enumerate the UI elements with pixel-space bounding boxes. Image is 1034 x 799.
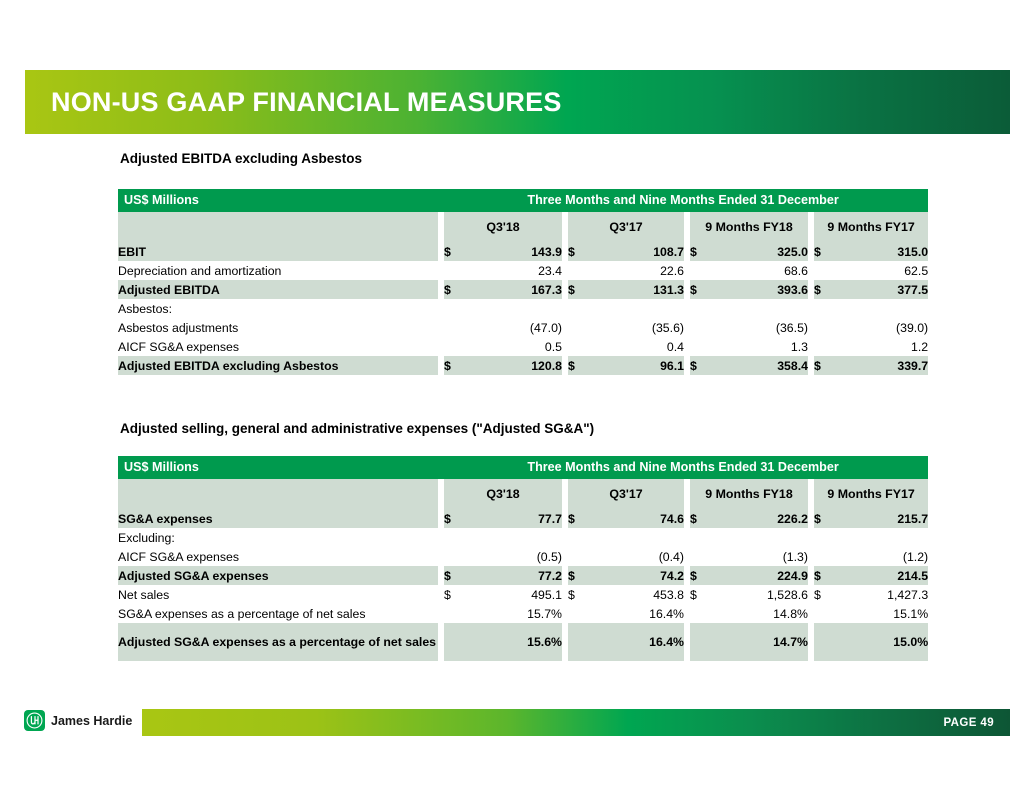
table-row: Adjusted EBITDA excluding Asbestos $ 120… <box>118 356 928 375</box>
row-value: 77.7 <box>462 509 562 528</box>
brand-name: James Hardie <box>51 714 132 728</box>
row-value: 14.8% <box>708 604 808 623</box>
table-row: EBIT $ 143.9 $ 108.7 $ 325.0 $ 315.0 <box>118 242 928 261</box>
row-value: 0.4 <box>586 337 684 356</box>
row-label: Depreciation and amortization <box>118 261 438 280</box>
table1-col-q318: Q3'18 <box>444 212 562 242</box>
row-value: 1.2 <box>832 337 928 356</box>
table-row: Adjusted SG&A expenses $ 77.2 $ 74.2 $ 2… <box>118 566 928 585</box>
row-value: (0.5) <box>462 547 562 566</box>
page-title: NON-US GAAP FINANCIAL MEASURES <box>25 87 562 118</box>
row-currency: $ <box>568 356 586 375</box>
row-currency: $ <box>444 356 462 375</box>
table2-col-q317: Q3'17 <box>568 479 684 509</box>
row-value: 15.1% <box>832 604 928 623</box>
row-value: 14.7% <box>708 623 808 661</box>
row-label: Adjusted SG&A expenses as a percentage o… <box>118 623 438 661</box>
james-hardie-monogram-icon <box>24 710 45 731</box>
row-currency: $ <box>444 280 462 299</box>
table-row: Asbestos adjustments (47.0) (35.6) (36.5… <box>118 318 928 337</box>
row-value: 22.6 <box>586 261 684 280</box>
table1-banner-right: Three Months and Nine Months Ended 31 De… <box>438 189 928 212</box>
row-value: 315.0 <box>832 242 928 261</box>
table-row: SG&A expenses $ 77.7 $ 74.6 $ 226.2 $ 21… <box>118 509 928 528</box>
row-value: 167.3 <box>462 280 562 299</box>
table2-column-header-row: Q3'18 Q3'17 9 Months FY18 9 Months FY17 <box>118 479 928 509</box>
table-row: AICF SG&A expenses (0.5) (0.4) (1.3) (1.… <box>118 547 928 566</box>
row-value: 143.9 <box>462 242 562 261</box>
row-currency <box>814 261 832 280</box>
row-value <box>832 299 928 318</box>
row-currency <box>444 261 462 280</box>
table1-colhead-blank <box>118 212 438 242</box>
table1-banner-left: US$ Millions <box>118 189 438 212</box>
row-currency: $ <box>444 242 462 261</box>
row-currency: $ <box>444 585 462 604</box>
row-currency: $ <box>444 566 462 585</box>
brand-logo: James Hardie <box>24 710 132 731</box>
row-label: EBIT <box>118 242 438 261</box>
row-currency: $ <box>568 280 586 299</box>
row-currency: $ <box>690 566 708 585</box>
row-currency <box>568 261 586 280</box>
row-value: 96.1 <box>586 356 684 375</box>
row-currency: $ <box>690 585 708 604</box>
row-value: (1.3) <box>708 547 808 566</box>
row-value: 16.4% <box>586 623 684 661</box>
row-currency: $ <box>690 509 708 528</box>
row-value: (47.0) <box>462 318 562 337</box>
row-value: 377.5 <box>832 280 928 299</box>
row-value: (36.5) <box>708 318 808 337</box>
table2-banner-row: US$ Millions Three Months and Nine Month… <box>118 456 928 479</box>
row-value: 15.6% <box>462 623 562 661</box>
row-value: 74.6 <box>586 509 684 528</box>
row-value <box>462 299 562 318</box>
table-row: Adjusted SG&A expenses as a percentage o… <box>118 623 928 661</box>
row-label: Asbestos adjustments <box>118 318 438 337</box>
table-adjusted-ebitda: US$ Millions Three Months and Nine Month… <box>118 189 928 375</box>
row-label: Net sales <box>118 585 438 604</box>
row-value: 15.7% <box>462 604 562 623</box>
row-currency <box>690 261 708 280</box>
row-label: Adjusted EBITDA excluding Asbestos <box>118 356 438 375</box>
row-value: 215.7 <box>832 509 928 528</box>
table2-banner-right: Three Months and Nine Months Ended 31 De… <box>438 456 928 479</box>
row-value: 15.0% <box>832 623 928 661</box>
table-row: Asbestos: <box>118 299 928 318</box>
row-value: 325.0 <box>708 242 808 261</box>
row-currency: $ <box>814 566 832 585</box>
row-value: 224.9 <box>708 566 808 585</box>
row-label: SG&A expenses <box>118 509 438 528</box>
row-value: 1.3 <box>708 337 808 356</box>
row-label: SG&A expenses as a percentage of net sal… <box>118 604 438 623</box>
table1-column-header-row: Q3'18 Q3'17 9 Months FY18 9 Months FY17 <box>118 212 928 242</box>
row-currency: $ <box>814 509 832 528</box>
row-value: 68.6 <box>708 261 808 280</box>
row-value: 62.5 <box>832 261 928 280</box>
row-currency: $ <box>814 280 832 299</box>
row-value: 358.4 <box>708 356 808 375</box>
section-heading-sga: Adjusted selling, general and administra… <box>120 421 594 436</box>
row-value <box>832 528 928 547</box>
row-value: 131.3 <box>586 280 684 299</box>
row-currency: $ <box>814 242 832 261</box>
row-value: 453.8 <box>586 585 684 604</box>
row-currency: $ <box>690 280 708 299</box>
row-currency: $ <box>690 242 708 261</box>
table-row: Adjusted EBITDA $ 167.3 $ 131.3 $ 393.6 … <box>118 280 928 299</box>
section-heading-ebitda: Adjusted EBITDA excluding Asbestos <box>120 151 362 166</box>
row-value <box>462 528 562 547</box>
table1-col-q317: Q3'17 <box>568 212 684 242</box>
row-currency: $ <box>814 356 832 375</box>
row-value <box>586 299 684 318</box>
table-row: Depreciation and amortization 23.4 22.6 … <box>118 261 928 280</box>
row-value: (0.4) <box>586 547 684 566</box>
row-value: (35.6) <box>586 318 684 337</box>
row-value: 74.2 <box>586 566 684 585</box>
row-label: Adjusted SG&A expenses <box>118 566 438 585</box>
table-row: Excluding: <box>118 528 928 547</box>
row-value: 108.7 <box>586 242 684 261</box>
row-value: 1,528.6 <box>708 585 808 604</box>
slide-title-banner: NON-US GAAP FINANCIAL MEASURES <box>25 70 1010 134</box>
row-value: 1,427.3 <box>832 585 928 604</box>
row-value <box>708 528 808 547</box>
table1-col-9m-fy18: 9 Months FY18 <box>690 212 808 242</box>
row-value: 77.2 <box>462 566 562 585</box>
row-label: Excluding: <box>118 528 438 547</box>
row-currency: $ <box>568 509 586 528</box>
row-label: Asbestos: <box>118 299 438 318</box>
row-value: 495.1 <box>462 585 562 604</box>
row-value: 23.4 <box>462 261 562 280</box>
row-value: 214.5 <box>832 566 928 585</box>
row-value: 120.8 <box>462 356 562 375</box>
table2-col-9m-fy17: 9 Months FY17 <box>814 479 928 509</box>
table-row: SG&A expenses as a percentage of net sal… <box>118 604 928 623</box>
table1-col-9m-fy17: 9 Months FY17 <box>814 212 928 242</box>
row-currency: $ <box>444 509 462 528</box>
row-value: 393.6 <box>708 280 808 299</box>
row-label: AICF SG&A expenses <box>118 337 438 356</box>
row-value: 226.2 <box>708 509 808 528</box>
table-adjusted-sga: US$ Millions Three Months and Nine Month… <box>118 456 928 661</box>
table2-col-q318: Q3'18 <box>444 479 562 509</box>
row-value: 339.7 <box>832 356 928 375</box>
row-label: AICF SG&A expenses <box>118 547 438 566</box>
row-value: (39.0) <box>832 318 928 337</box>
row-currency: $ <box>568 585 586 604</box>
row-label: Adjusted EBITDA <box>118 280 438 299</box>
page-number: PAGE 49 <box>943 717 1010 729</box>
row-currency: $ <box>568 242 586 261</box>
footer-gradient-bar: PAGE 49 <box>142 709 1010 736</box>
table2-colhead-blank <box>118 479 438 509</box>
table2-col-9m-fy18: 9 Months FY18 <box>690 479 808 509</box>
row-currency: $ <box>568 566 586 585</box>
row-value: 0.5 <box>462 337 562 356</box>
table1-banner-row: US$ Millions Three Months and Nine Month… <box>118 189 928 212</box>
table-row: AICF SG&A expenses 0.5 0.4 1.3 1.2 <box>118 337 928 356</box>
table2-banner-left: US$ Millions <box>118 456 438 479</box>
row-value: (1.2) <box>832 547 928 566</box>
row-currency: $ <box>814 585 832 604</box>
row-currency: $ <box>690 356 708 375</box>
row-value <box>708 299 808 318</box>
row-value: 16.4% <box>586 604 684 623</box>
row-value <box>586 528 684 547</box>
table-row: Net sales $ 495.1 $ 453.8 $ 1,528.6 $ 1,… <box>118 585 928 604</box>
